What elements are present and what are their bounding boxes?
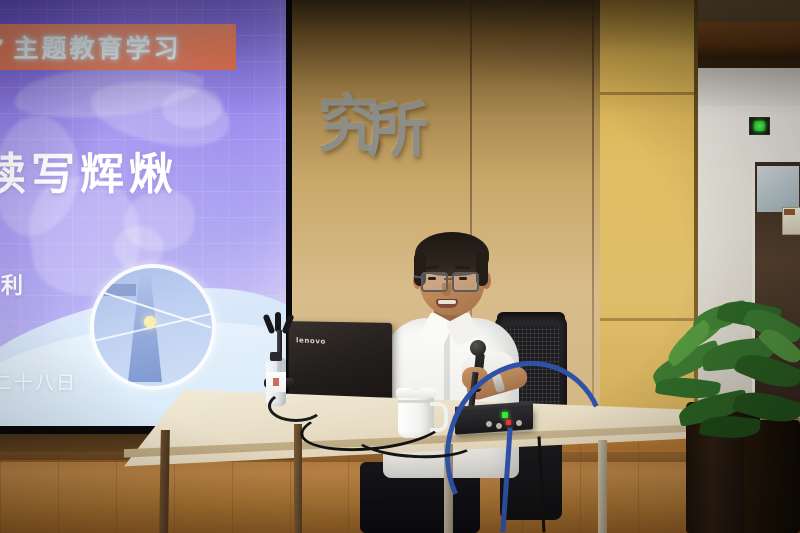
exit-sign-icon: [749, 117, 770, 135]
photo-scene: 究 所 ” 主题教育学习 续写辉煍 力利 月二十八日: [0, 0, 800, 533]
mug-lid-knob: [410, 382, 422, 390]
wall-sign-char-2: 所: [368, 82, 428, 169]
desk-leg: [294, 424, 302, 533]
potted-plant: [648, 300, 800, 450]
person-eye-right: [459, 277, 467, 280]
person-teeth: [438, 300, 456, 304]
eyeglasses-lens-right: [452, 272, 479, 292]
door-glass-panel: [757, 166, 799, 212]
handheld-microphone-head: [470, 340, 486, 356]
eyeglasses-bridge: [444, 278, 453, 280]
running-man-glyph: [754, 121, 765, 131]
person-nose: [442, 283, 451, 296]
person-eye-left: [428, 277, 436, 280]
wall-panel-seam: [600, 92, 696, 95]
door-header-shadow: [698, 58, 800, 68]
desk-leg: [159, 430, 170, 533]
clip-prong: [275, 312, 281, 332]
bottle-cap: [270, 352, 282, 361]
laptop-brand-logo: lenovo: [296, 336, 326, 346]
black-cable: [268, 390, 324, 422]
bottle-label-mark: [273, 378, 279, 386]
intercom-led-icon: [784, 209, 795, 215]
projection-screen: ” 主题教育学习 续写辉煍 力利 月二十八日: [0, 0, 286, 426]
projector-glow: [0, 0, 280, 422]
door-header-beam: [698, 22, 800, 58]
